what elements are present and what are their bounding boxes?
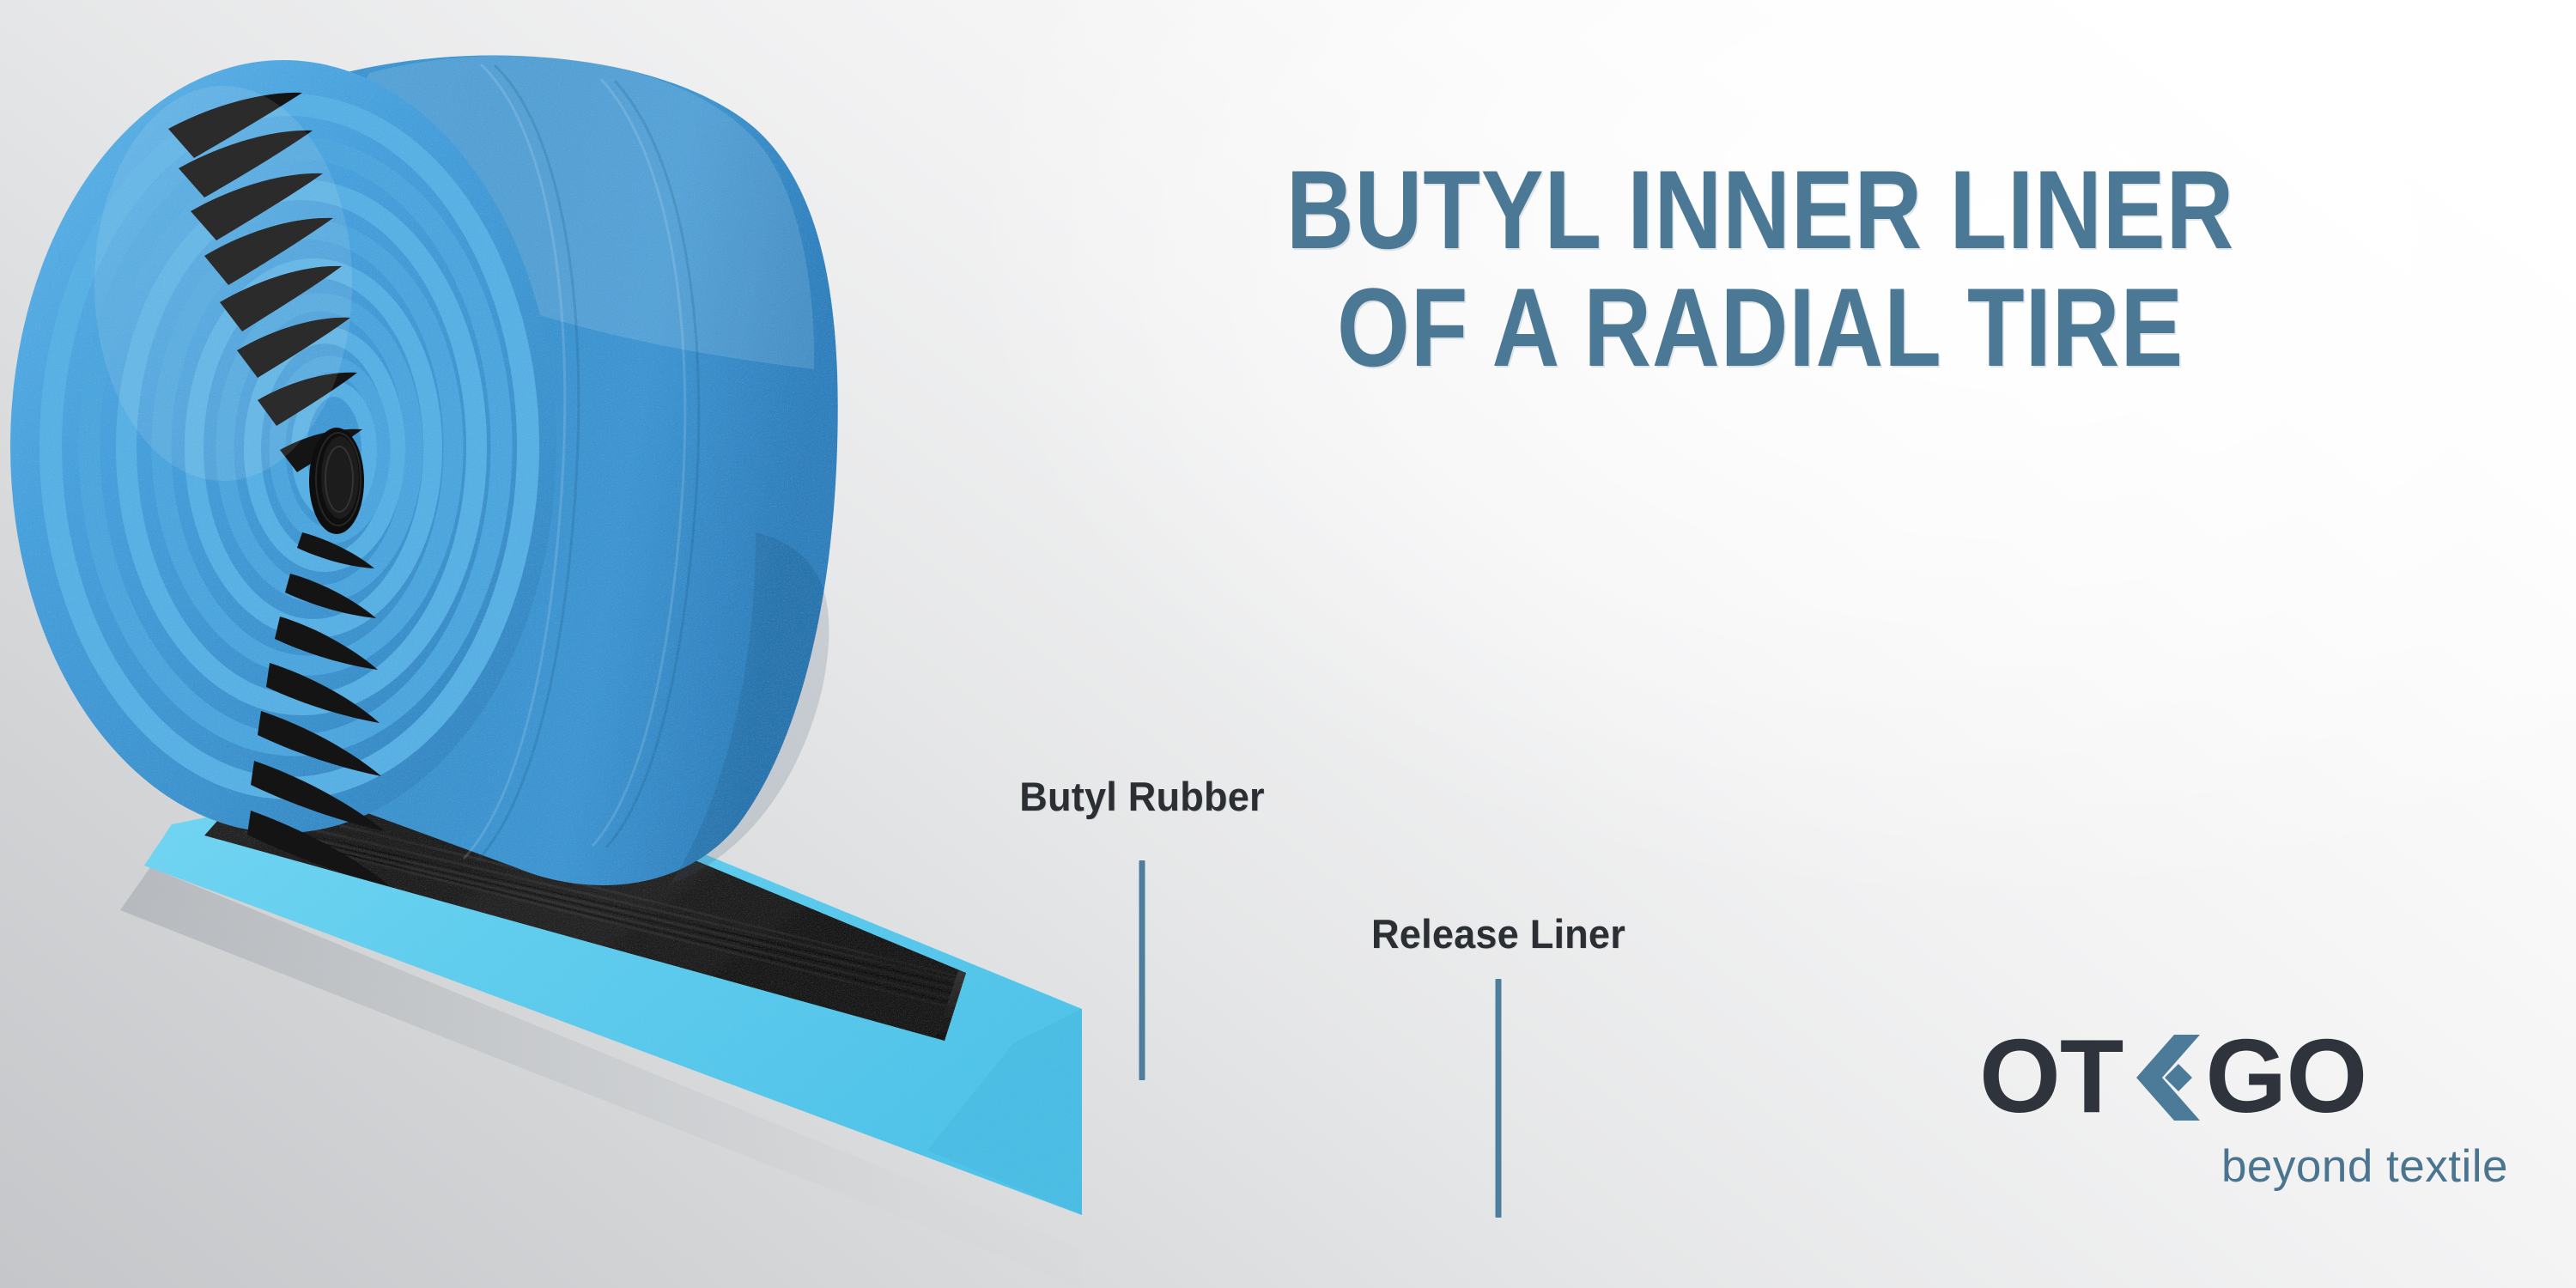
poster-canvas: BUTYL INNER LINER OF A RADIAL TIRE Butyl…	[0, 0, 2576, 1288]
callout-leader-line-release-liner	[1496, 979, 1502, 1218]
chevron-diamond-icon	[2124, 1033, 2203, 1122]
logo-word-right: GO	[2205, 1024, 2366, 1128]
logo-wordmark: OT GO	[1979, 1024, 2512, 1128]
otego-logo: OT GO beyond textile	[1979, 1024, 2512, 1193]
callout-label-butyl-rubber: Butyl Rubber	[1019, 773, 1265, 820]
page-title: BUTYL INNER LINER OF A RADIAL TIRE	[1151, 153, 2370, 384]
callout-label-release-liner: Release Liner	[1371, 910, 1625, 957]
logo-tagline: beyond textile	[1979, 1140, 2512, 1193]
title-line-1: BUTYL INNER LINER	[1151, 153, 2370, 267]
tape-roll-illustration	[0, 0, 1082, 1288]
roll-core	[309, 428, 364, 534]
callout-leader-line-butyl-rubber	[1139, 860, 1145, 1080]
title-line-2: OF A RADIAL TIRE	[1151, 270, 2370, 385]
logo-word-left: OT	[1979, 1024, 2123, 1128]
